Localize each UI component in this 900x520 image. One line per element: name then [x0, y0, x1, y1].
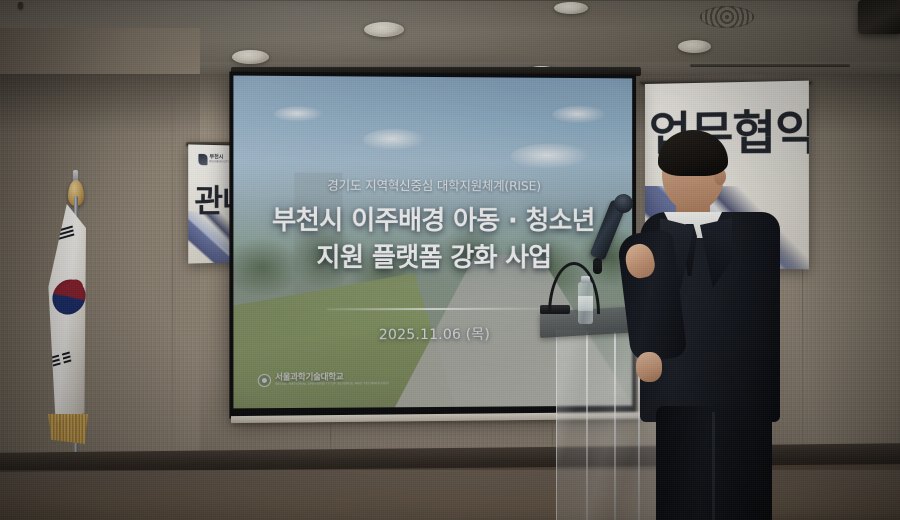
slide-cloud [511, 143, 592, 169]
presentation-hall-photo: 부천시 BUCHEON CITY 관내 업무협약식 경기도 지역혁신중심 대학지… [0, 0, 900, 520]
speaker-hand-lower [636, 352, 662, 382]
lectern-edge [614, 332, 616, 520]
slide-subtitle: 경기도 지역혁신중심 대학지원체계(RISE) [233, 174, 632, 194]
hvac-diffuser [700, 6, 754, 28]
water-bottle-label [578, 296, 593, 311]
bucheon-city-logo: 부천시 BUCHEON CITY [198, 154, 229, 166]
gooseneck-microphone-capsule [593, 258, 602, 274]
bucheon-logo-sub: BUCHEON CITY [210, 161, 230, 164]
university-seal-icon [258, 374, 271, 387]
trigram-gon-icon [51, 351, 72, 368]
bucheon-logo-mark [198, 154, 207, 165]
fire-sprinkler [18, 2, 23, 9]
water-bottle-cap [581, 276, 590, 283]
ceiling-mounted-projector [858, 0, 900, 34]
ceiling-downlight [678, 40, 711, 53]
ceiling-downlight [364, 22, 404, 37]
university-logo: 서울과학기술대학교 SEOUL NATIONAL UNIVERSITY OF S… [258, 373, 389, 387]
university-logo-name-en: SEOUL NATIONAL UNIVERSITY OF SCIENCE AND… [275, 383, 389, 388]
ceiling-conduit [690, 64, 850, 67]
wall-panel-seam [172, 96, 173, 452]
taeguk-circle-icon [49, 275, 86, 319]
ceiling-downlight [232, 50, 269, 64]
wall-panel-seam [330, 422, 331, 452]
slide-cloud [363, 129, 427, 151]
speaker-leg-seam [712, 412, 715, 520]
lectern-edge [586, 332, 588, 520]
slide-cloud [552, 106, 607, 124]
left-wall [0, 28, 200, 474]
ceiling-downlight [554, 2, 588, 14]
slide-cloud [274, 106, 325, 122]
ceiling-seam [0, 0, 900, 1]
flag-gold-fringe [48, 414, 88, 444]
slide-title-line1: 부천시 이주배경 아동 · 청소년 [233, 203, 632, 240]
